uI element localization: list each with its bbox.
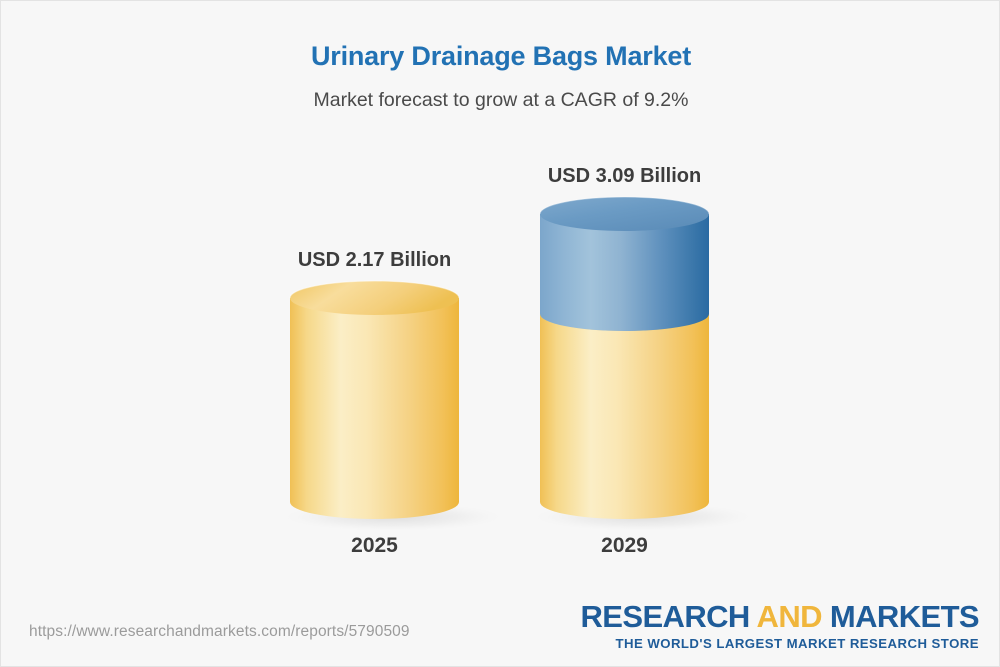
chart-canvas: Urinary Drainage Bags Market Market fore…	[0, 0, 1000, 667]
logo-word-research: RESEARCH	[581, 599, 757, 634]
bar-2029-blue-body	[540, 214, 709, 331]
logo-word-and: AND	[757, 599, 830, 634]
source-url[interactable]: https://www.researchandmarkets.com/repor…	[29, 623, 410, 641]
bar-chart-plot	[1, 1, 1000, 667]
category-label-2025: 2025	[290, 534, 459, 558]
logo-word-markets: MARKETS	[830, 599, 979, 634]
bar-2025-body	[290, 298, 459, 519]
bar-cylinder-2029[interactable]	[540, 197, 709, 519]
logo-tagline: THE WORLD'S LARGEST MARKET RESEARCH STOR…	[581, 637, 979, 650]
bar-2029-gold-body	[540, 314, 709, 519]
data-label-2025: USD 2.17 Billion	[290, 249, 459, 272]
bar-cylinder-2025[interactable]	[290, 281, 459, 519]
category-label-2029: 2029	[540, 534, 709, 558]
data-label-2029: USD 3.09 Billion	[540, 165, 709, 188]
logo-wordmark: RESEARCH AND MARKETS	[581, 601, 979, 632]
research-and-markets-logo[interactable]: RESEARCH AND MARKETS THE WORLD'S LARGEST…	[581, 601, 979, 650]
